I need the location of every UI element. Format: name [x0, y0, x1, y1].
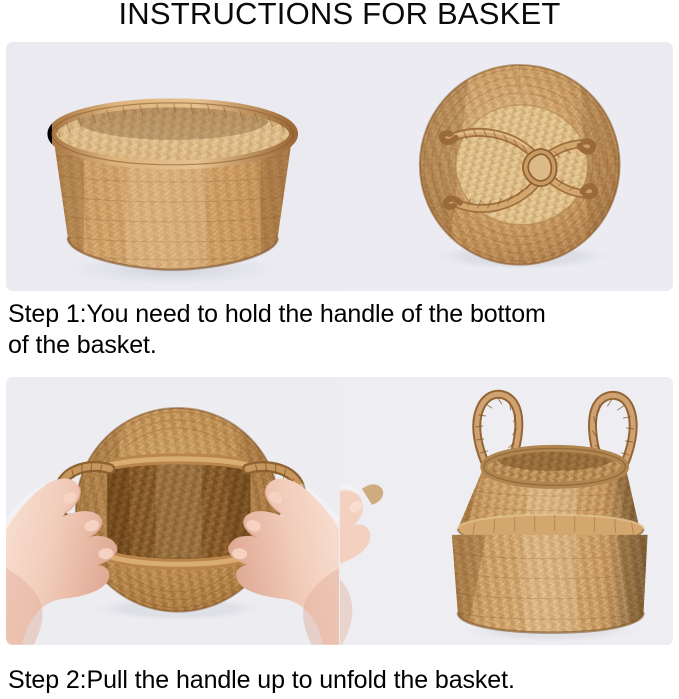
- basket-top-view-illustration: [340, 42, 673, 291]
- image-hands-holding-basket-handles: [6, 377, 340, 645]
- step-1-line-1: Step 1:You need to hold the handle of th…: [8, 299, 674, 330]
- partial-hand-left-edge: [340, 484, 383, 644]
- image-basket-top-view-handles-inside: [340, 42, 674, 291]
- basket-unfolded-illustration: [340, 377, 673, 645]
- page-title: INSTRUCTIONS FOR BASKET: [0, 0, 679, 34]
- image-basket-unfolded-with-handles-up: [340, 377, 674, 645]
- step-1-caption: Step 1:You need to hold the handle of th…: [8, 299, 674, 361]
- step-2-line-1: Step 2:Pull the handle up to unfold the …: [8, 665, 674, 696]
- instruction-sheet: INSTRUCTIONS FOR BASKET: [0, 0, 679, 699]
- step-1-image-strip: [6, 42, 673, 291]
- image-basket-side-view-collapsed: [6, 42, 340, 291]
- step-2-caption: Step 2:Pull the handle up to unfold the …: [8, 665, 674, 696]
- step-1-line-2: of the basket.: [8, 330, 674, 361]
- basket-side-view-illustration: [6, 42, 339, 291]
- step-2-image-strip: [6, 377, 673, 645]
- hands-holding-handles-illustration: [6, 377, 339, 645]
